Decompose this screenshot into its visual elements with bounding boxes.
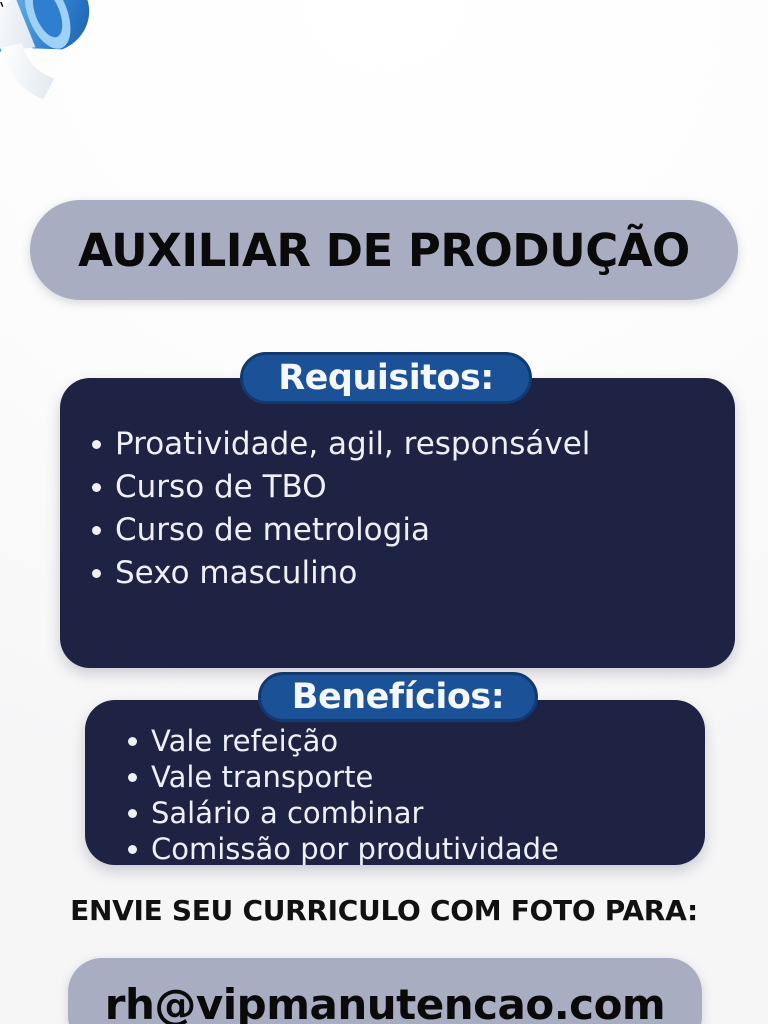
bullet-icon	[92, 569, 101, 578]
page-title: VAGAS!	[0, 0, 768, 18]
list-item-text: Salário a combinar	[151, 796, 423, 831]
list-item: Curso de TBO	[92, 468, 590, 506]
requirements-header-badge: Requisitos:	[240, 352, 532, 404]
list-item: Vale transporte	[128, 760, 559, 795]
call-to-action-text: ENVIE SEU CURRICULO COM FOTO PARA:	[0, 894, 768, 927]
email-banner[interactable]: rh@vipmanutencao.com	[68, 958, 702, 1024]
list-item-text: Comissão por produtividade	[151, 832, 559, 867]
bullet-icon	[128, 809, 137, 818]
list-item: Proatividade, agil, responsável	[92, 425, 590, 463]
bullet-icon	[128, 737, 137, 746]
job-title-text: AUXILIAR DE PRODUÇÃO	[78, 224, 690, 277]
list-item-text: Sexo masculino	[115, 554, 357, 592]
megaphone-icon	[0, 0, 139, 143]
list-item: Curso de metrologia	[92, 511, 590, 549]
requirements-list: Proatividade, agil, responsável Curso de…	[92, 425, 590, 597]
benefits-list: Vale refeição Vale transporte Salário a …	[128, 724, 559, 868]
job-posting-poster: VAGAS! AUXILIAR DE PRODUÇÃO Requisitos: …	[0, 0, 768, 1024]
bullet-icon	[128, 845, 137, 854]
benefits-header-badge: Benefícios:	[258, 672, 538, 722]
list-item-text: Curso de metrologia	[115, 511, 430, 549]
list-item-text: Curso de TBO	[115, 468, 327, 506]
list-item-text: Proatividade, agil, responsável	[115, 425, 590, 463]
bullet-icon	[92, 440, 101, 449]
bullet-icon	[92, 526, 101, 535]
bullet-icon	[128, 773, 137, 782]
list-item: Comissão por produtividade	[128, 832, 559, 867]
list-item-text: Vale transporte	[151, 760, 373, 795]
list-item: Sexo masculino	[92, 554, 590, 592]
benefits-header-text: Benefícios:	[292, 677, 504, 717]
email-address-text[interactable]: rh@vipmanutencao.com	[105, 980, 665, 1024]
list-item-text: Vale refeição	[151, 724, 338, 759]
bullet-icon	[92, 483, 101, 492]
job-title-banner: AUXILIAR DE PRODUÇÃO	[30, 200, 738, 300]
requirements-header-text: Requisitos:	[278, 358, 494, 398]
list-item: Vale refeição	[128, 724, 559, 759]
list-item: Salário a combinar	[128, 796, 559, 831]
